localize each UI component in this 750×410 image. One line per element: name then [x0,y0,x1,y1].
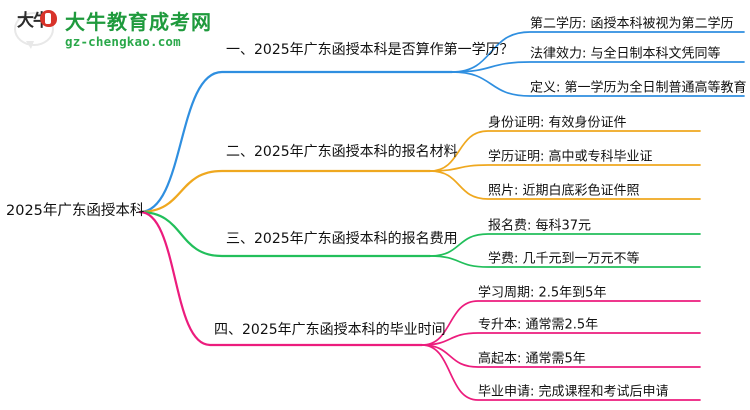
leaf-connector-4-2 [422,333,700,345]
logo-text-block: 大牛教育成考网 gz-chengkao.com [65,12,212,49]
logo-url: gz-chengkao.com [65,36,212,49]
logo-badge-icon [40,10,57,27]
leaf-node-2-1[interactable]: 身份证明: 有效身份证件 [488,112,627,131]
logo-bubble-tail [26,41,34,49]
leaf-node-2-3[interactable]: 照片: 近期白底彩色证件照 [488,180,640,199]
site-logo: 大牛 大牛教育成考网 gz-chengkao.com [14,10,212,50]
leaf-node-4-4[interactable]: 毕业申请: 完成课程和考试后申请 [478,381,669,400]
leaf-node-1-3[interactable]: 定义: 第一学历为全日制普通高等教育 [530,77,747,96]
mindmap-root-node[interactable]: 2025年广东函授本科 [6,199,144,220]
leaf-node-2-2[interactable]: 学历证明: 高中或专科毕业证 [488,146,653,165]
branch-connector-2 [140,171,430,212]
leaf-connector-1-2 [452,62,744,72]
leaf-node-4-2[interactable]: 专升本: 通常需2.5年 [478,314,598,333]
branch-node-3[interactable]: 三、2025年广东函授本科的报名费用 [226,228,458,248]
leaf-node-4-3[interactable]: 高起本: 通常需5年 [478,348,586,367]
leaf-node-1-1[interactable]: 第二学历: 函授本科被视为第二学历 [530,13,734,32]
branch-node-4[interactable]: 四、2025年广东函授本科的毕业时间 [214,319,446,339]
leaf-node-3-1[interactable]: 报名费: 每科37元 [488,215,591,234]
branch-node-1[interactable]: 一、2025年广东函授本科是否算作第一学历？ [226,39,514,59]
logo-title: 大牛教育成考网 [65,12,212,32]
leaf-node-4-1[interactable]: 学习周期: 2.5年到5年 [478,282,606,301]
leaf-node-1-2[interactable]: 法律效力: 与全日制本科文凭同等 [530,43,721,62]
leaf-connector-2-2 [430,165,700,171]
logo-icon: 大牛 [14,10,58,50]
branch-node-2[interactable]: 二、2025年广东函授本科的报名材料 [226,141,458,161]
leaf-node-3-2[interactable]: 学费: 几千元到一万元不等 [488,248,640,267]
